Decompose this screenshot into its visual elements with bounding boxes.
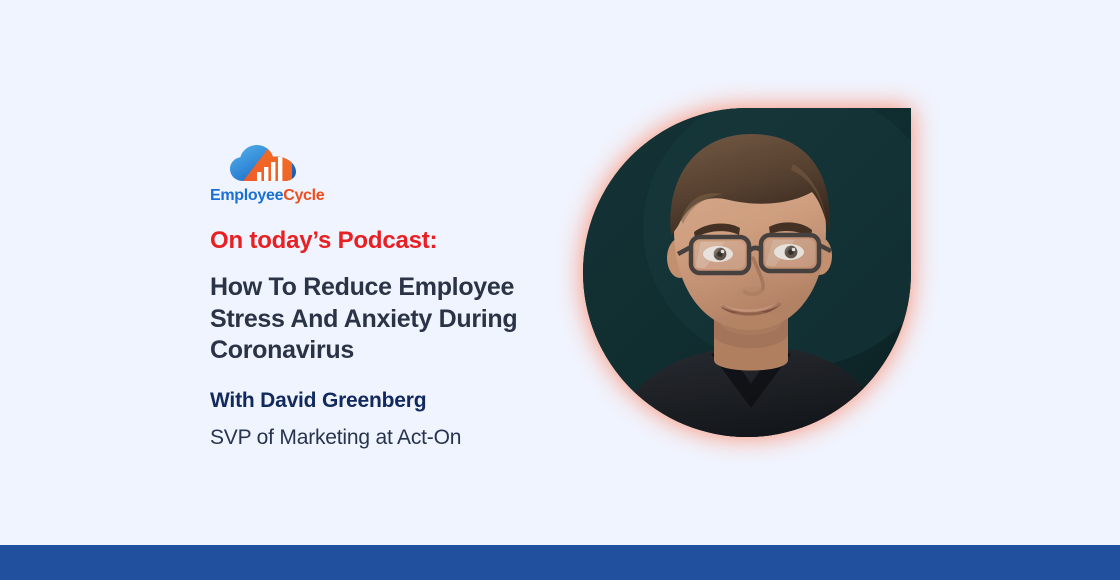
photo-frame [583,108,911,437]
cloud-chart-icon [230,145,296,185]
guest-portrait-illustration [583,108,911,437]
employee-cycle-logo: EmployeeCycle [210,145,320,204]
logo-wordmark: EmployeeCycle [210,188,320,204]
logo-word-employee: Employee [210,187,283,204]
guest-name: With David Greenberg [210,388,550,413]
logo-word-cycle: Cycle [283,187,324,204]
text-column: EmployeeCycle On today’s Podcast: How To… [210,145,550,451]
guest-role: SVP of Marketing at Act-On [210,425,550,450]
episode-title: How To Reduce Employee Stress And Anxiet… [210,272,535,366]
eyebrow-label: On today’s Podcast: [210,228,550,254]
podcast-promo-slide: EmployeeCycle On today’s Podcast: How To… [0,0,1120,580]
guest-photo [583,108,911,437]
bottom-accent-bar [0,545,1120,580]
